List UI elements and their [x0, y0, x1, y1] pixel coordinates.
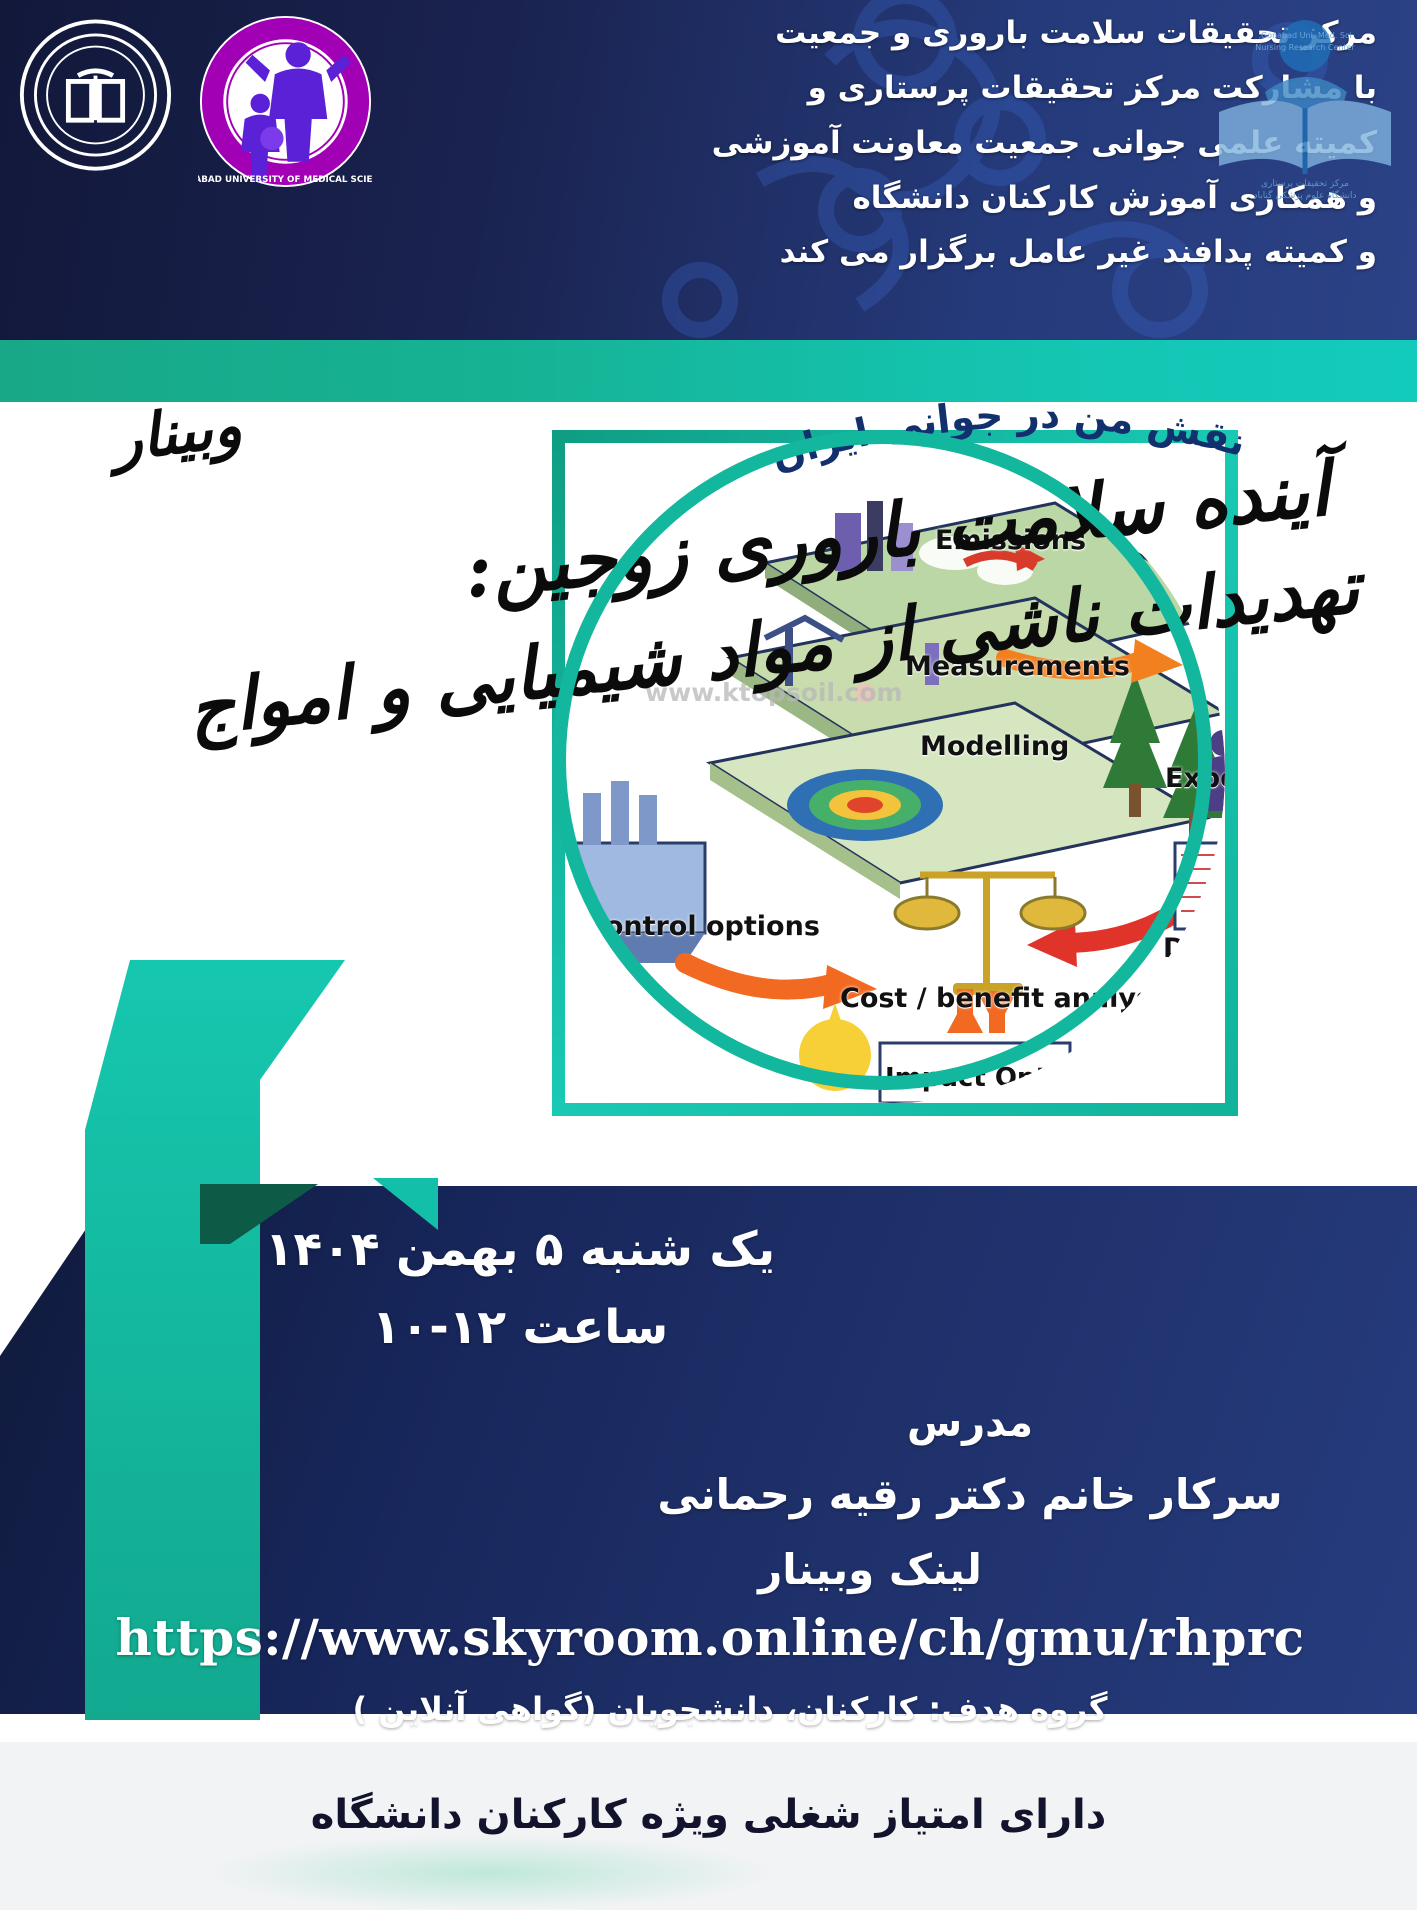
illustration-inner: www.ktopsoil.com Emissions Measurements … [565, 443, 1225, 1103]
illustration-watermark: www.ktopsoil.com [645, 678, 903, 707]
event-time: ساعت ۱۲-۱۰ [220, 1300, 820, 1355]
reproductive-health-population-research-center-logo: GONABAD UNIVERSITY OF MEDICAL SCIENCES [198, 14, 373, 189]
diagram-label-measurements: Measurements [905, 651, 1130, 682]
webinar-poster: GONABAD UNIVERSITY OF MEDICAL SCIENCES G… [0, 0, 1417, 1910]
instructor-name: سرکار خانم دکتر رقیه رحمانی [560, 1470, 1380, 1519]
svg-text:مرکز تحقیقات پرستاری: مرکز تحقیقات پرستاری [1261, 179, 1349, 189]
footer-glow [210, 1836, 770, 1910]
webinar-link-url[interactable]: https://www.skyroom.online/ch/gmu/rhprc [100, 1608, 1320, 1667]
svg-text:Nursing Research Center: Nursing Research Center [1255, 43, 1355, 52]
event-date: یک شنبه ۵ بهمن ۱۴۰۴ [220, 1222, 820, 1277]
header-line-5: و کمیته پدافند غیر عامل برگزار می کند [377, 225, 1377, 280]
target-group: گروه هدف: کارکنان، دانشجویان (گواهی آنلا… [140, 1690, 1320, 1728]
diagram-label-dose: Dose [1163, 933, 1225, 964]
teal-divider-bar [0, 340, 1417, 402]
diagram-label-cost-benefit: Cost / benefit analysis [840, 983, 1177, 1014]
diagram-label-emissions: Emissions [935, 525, 1086, 556]
webinar-link-label: لینک وبینار [460, 1545, 1280, 1594]
svg-text:Gonabad Uni. Med. Sci.: Gonabad Uni. Med. Sci. [1258, 31, 1351, 40]
nursing-research-center-logo: Gonabad Uni. Med. Sci. Nursing Research … [1193, 8, 1403, 203]
instructor-label: مدرس [760, 1400, 1180, 1446]
diagram-label-control-options: Control options [585, 911, 820, 942]
diagram-label-impact-options: Impact Options [885, 1063, 1109, 1093]
footer-note: دارای امتیاز شغلی ویژه کارکنان دانشگاه [0, 1792, 1417, 1838]
illustration-circle: www.ktopsoil.com Emissions Measurements … [552, 430, 1238, 1116]
gonabad-university-research-deputy-logo [18, 16, 173, 174]
poster-header: GONABAD UNIVERSITY OF MEDICAL SCIENCES G… [0, 0, 1417, 340]
diagram-label-modelling: Modelling [920, 731, 1069, 762]
svg-text:دانشگاه علوم پزشکی گناباد: دانشگاه علوم پزشکی گناباد [1253, 189, 1356, 201]
svg-text:GONABAD UNIVERSITY OF MEDICAL: GONABAD UNIVERSITY OF MEDICAL SCIENCES [198, 175, 373, 185]
diagram-label-exposure: Exposure [1165, 763, 1225, 794]
